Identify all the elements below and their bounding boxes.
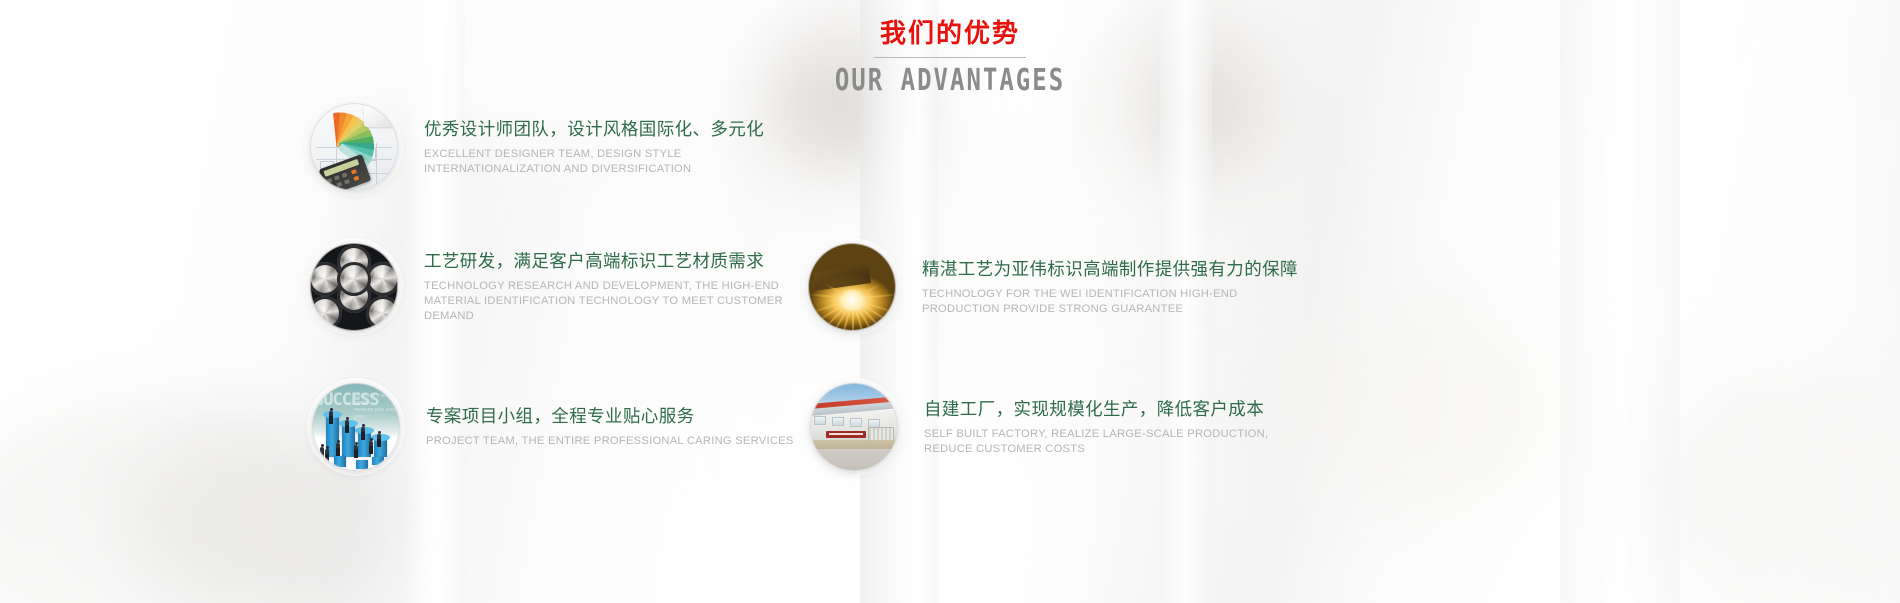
advantage-title-en: EXCELLENT DESIGNER TEAM, DESIGN STYLE IN… xyxy=(424,147,804,177)
metal-pipes-icon xyxy=(310,243,398,331)
advantage-text-block: 工艺研发，满足客户高端标识工艺材质需求 TECHNOLOGY RESEARCH … xyxy=(424,250,804,324)
advantage-title-en: TECHNOLOGY FOR THE WEI IDENTIFICATION HI… xyxy=(922,287,1302,317)
advantage-title-cn: 工艺研发，满足客户高端标识工艺材质需求 xyxy=(424,250,804,274)
advantage-item-designer-team[interactable]: 优秀设计师团队，设计风格国际化、多元化 EXCELLENT DESIGNER T… xyxy=(310,103,804,191)
advantage-title-cn: 专案项目小组，全程专业贴心服务 xyxy=(426,405,794,429)
advantage-title-cn: 优秀设计师团队，设计风格国际化、多元化 xyxy=(424,118,804,142)
advantage-text-block: 精湛工艺为亚伟标识高端制作提供强有力的保障 TECHNOLOGY FOR THE… xyxy=(922,258,1302,317)
advantage-title-en: PROJECT TEAM, THE ENTIRE PROFESSIONAL CA… xyxy=(426,434,794,449)
advantage-item-project-team[interactable]: SUCCESS corporate finance growthmeasure … xyxy=(312,383,794,471)
advantage-title-cn: 精湛工艺为亚伟标识高端制作提供强有力的保障 xyxy=(922,258,1302,282)
advantage-text-block: 自建工厂，实现规模化生产，降低客户成本 SELF BUILT FACTORY, … xyxy=(924,398,1304,457)
advantage-title-en: TECHNOLOGY RESEARCH AND DEVELOPMENT, THE… xyxy=(424,279,804,324)
advantage-text-block: 专案项目小组，全程专业贴心服务 PROJECT TEAM, THE ENTIRE… xyxy=(426,405,794,449)
section-title-en: OUR ADVANTAGES xyxy=(190,64,1710,98)
section-title-cn: 我们的优势 xyxy=(0,18,1900,50)
title-divider xyxy=(874,57,1026,58)
advantage-title-cn: 自建工厂，实现规模化生产，降低客户成本 xyxy=(924,398,1304,422)
section-header: 我们的优势 OUR ADVANTAGES xyxy=(0,18,1900,98)
business-growth-chart-icon: SUCCESS corporate finance growthmeasure … xyxy=(312,383,400,471)
factory-building-icon xyxy=(810,383,898,471)
welding-sparks-icon xyxy=(808,243,896,331)
advantage-text-block: 优秀设计师团队，设计风格国际化、多元化 EXCELLENT DESIGNER T… xyxy=(424,118,804,177)
advantage-item-craftsmanship[interactable]: 精湛工艺为亚伟标识高端制作提供强有力的保障 TECHNOLOGY FOR THE… xyxy=(808,243,1302,331)
advantages-section: 我们的优势 OUR ADVANTAGES xyxy=(0,0,1900,603)
color-swatch-blueprint-icon xyxy=(310,103,398,191)
advantage-item-own-factory[interactable]: 自建工厂，实现规模化生产，降低客户成本 SELF BUILT FACTORY, … xyxy=(810,383,1304,471)
advantage-title-en: SELF BUILT FACTORY, REALIZE LARGE-SCALE … xyxy=(924,427,1304,457)
advantage-item-technology-rd[interactable]: 工艺研发，满足客户高端标识工艺材质需求 TECHNOLOGY RESEARCH … xyxy=(310,243,804,331)
